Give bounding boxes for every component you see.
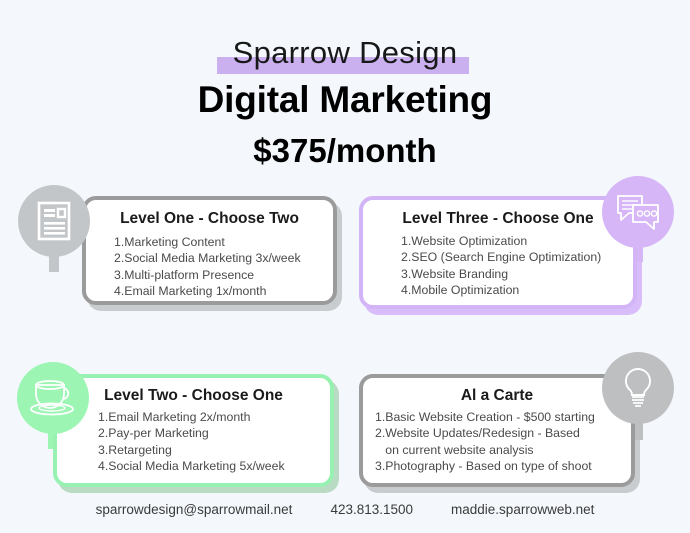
list-item-label: Pay-per Marketing — [108, 425, 208, 441]
list-item-label: Social Media Marketing 3x/week — [124, 250, 300, 266]
document-icon — [37, 201, 71, 241]
document-icon-badge — [18, 185, 90, 257]
list-item-label: Website Updates/Redesign - Based — [385, 426, 580, 440]
list-item: 4.Mobile Optimization — [401, 282, 633, 298]
list-item-number: 3. — [98, 442, 108, 458]
list-item: 1.Marketing Content — [114, 234, 333, 250]
list-item-number: 4. — [114, 283, 124, 299]
list-item-label-continued: on current website analysis — [385, 443, 533, 457]
list-item-label: Website Optimization — [411, 233, 527, 249]
list-item-label: Website Branding — [411, 266, 508, 282]
poster-canvas: Sparrow Design Digital Marketing $375/mo… — [0, 0, 690, 533]
contact-email[interactable]: sparrowdesign@sparrowmail.net — [96, 502, 293, 517]
list-item: 4.Social Media Marketing 5x/week — [98, 458, 330, 474]
teacup-icon — [28, 379, 78, 417]
list-item: 1.Website Optimization — [401, 233, 633, 249]
chat-bubbles-icon — [615, 192, 661, 232]
list-item-label: Retargeting — [108, 442, 172, 458]
package-card-level-one[interactable]: Level One - Choose Two 1.Marketing Conte… — [82, 196, 337, 305]
card-title: Level Three - Choose One — [363, 209, 633, 229]
card-title: Al a Carte — [363, 386, 631, 406]
package-card-a-la-carte[interactable]: Al a Carte 1.Basic Website Creation - $5… — [359, 374, 635, 487]
list-item: 2.Website Updates/Redesign - Basedon cur… — [375, 425, 631, 458]
list-item-label: Photography - Based on type of shoot — [385, 458, 591, 474]
list-item-number: 4. — [98, 458, 108, 474]
card-item-list: 1.Marketing Content 2.Social Media Marke… — [114, 234, 333, 300]
list-item-number: 1. — [114, 234, 124, 250]
list-item: 4.Email Marketing 1x/month — [114, 283, 333, 299]
card-title: Level One - Choose Two — [86, 209, 333, 229]
list-item-number: 3. — [401, 266, 411, 282]
brand-block: Sparrow Design — [0, 34, 690, 76]
package-card-level-three[interactable]: Level Three - Choose One 1.Website Optim… — [359, 196, 637, 309]
list-item-number: 4. — [401, 282, 411, 298]
list-item: 3.Website Branding — [401, 266, 633, 282]
list-item-number: 3. — [375, 458, 385, 474]
card-item-list: 1.Website Optimization 2.SEO (Search Eng… — [401, 233, 633, 299]
list-item: 1.Basic Website Creation - $500 starting — [375, 409, 631, 425]
list-item-label: Email Marketing 1x/month — [124, 283, 266, 299]
list-item-number: 2. — [114, 250, 124, 266]
lightbulb-icon — [621, 366, 655, 410]
list-item-number: 2. — [375, 425, 385, 458]
list-item-label: Basic Website Creation - $500 starting — [385, 409, 595, 425]
brand-name: Sparrow Design — [0, 34, 690, 72]
list-item: 1.Email Marketing 2x/month — [98, 409, 330, 425]
list-item-number: 2. — [401, 249, 411, 265]
teacup-icon-badge — [17, 362, 89, 434]
chat-bubbles-icon-badge — [602, 176, 674, 248]
page-title: Digital Marketing — [0, 77, 690, 122]
card-item-list: 1.Basic Website Creation - $500 starting… — [375, 409, 631, 475]
card-title: Level Two - Choose One — [57, 386, 330, 406]
list-item: 3.Photography - Based on type of shoot — [375, 458, 631, 474]
list-item-label: Marketing Content — [124, 234, 224, 250]
list-item: 2.Pay-per Marketing — [98, 425, 330, 441]
list-item-label: Mobile Optimization — [411, 282, 519, 298]
list-item-label: Social Media Marketing 5x/week — [108, 458, 284, 474]
list-item: 3.Retargeting — [98, 442, 330, 458]
list-item-label: Email Marketing 2x/month — [108, 409, 250, 425]
card-item-list: 1.Email Marketing 2x/month 2.Pay-per Mar… — [98, 409, 330, 475]
contact-phone[interactable]: 423.813.1500 — [330, 502, 413, 517]
list-item-label: Multi-platform Presence — [124, 267, 254, 283]
list-item-number: 2. — [98, 425, 108, 441]
price-label: $375/month — [0, 130, 690, 172]
list-item: 2.SEO (Search Engine Optimization) — [401, 249, 633, 265]
lightbulb-icon-badge — [602, 352, 674, 424]
contact-website[interactable]: maddie.sparrowweb.net — [451, 502, 594, 517]
list-item-label: SEO (Search Engine Optimization) — [411, 249, 601, 265]
package-card-level-two[interactable]: Level Two - Choose One 1.Email Marketing… — [53, 374, 334, 487]
list-item-number: 3. — [114, 267, 124, 283]
list-item-number: 1. — [98, 409, 108, 425]
list-item: 2.Social Media Marketing 3x/week — [114, 250, 333, 266]
list-item: 3.Multi-platform Presence — [114, 267, 333, 283]
list-item-number: 1. — [375, 409, 385, 425]
contact-footer: sparrowdesign@sparrowmail.net 423.813.15… — [0, 502, 690, 517]
list-item-number: 1. — [401, 233, 411, 249]
